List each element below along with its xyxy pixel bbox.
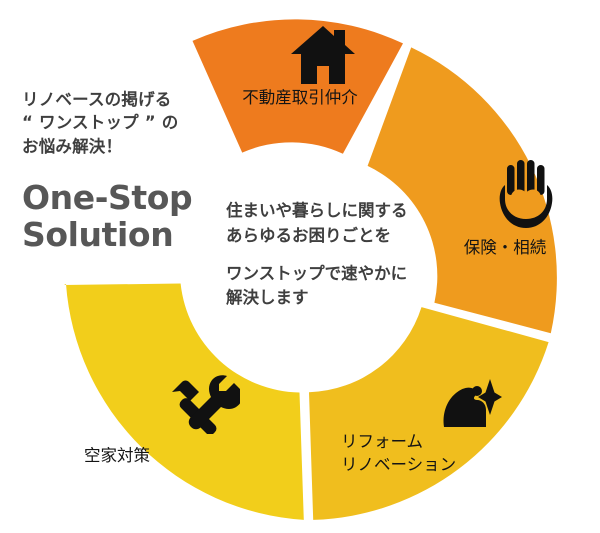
segment-label-renovation: リフォーム リノベーション <box>341 430 561 477</box>
segment-label-real-estate: 不動産取引仲介 <box>0 86 600 109</box>
hand-heart-icon <box>498 159 554 233</box>
center-paragraph2-line1: ワンストップで速やかに <box>226 262 451 287</box>
segment-label-insurance: 保険・相続 <box>410 236 600 259</box>
page-title-line-1: One-Stop <box>22 180 237 217</box>
house-icon <box>287 24 359 90</box>
lead-line-3: お悩み解決！ <box>22 135 237 158</box>
page-title: One-Stop Solution <box>22 180 237 254</box>
center-paragraph1-line1: 住まいや暮らしに関する <box>226 199 451 224</box>
segment-label-renovation-line2: リノベーション <box>341 453 561 476</box>
donut-segment-renovation[interactable] <box>309 307 549 520</box>
left-text-panel: リノベースの掲げる “ ワンストップ ” の お悩み解決！ One-Stop S… <box>22 88 237 254</box>
segment-label-vacant-house: 空家対策 <box>84 444 304 467</box>
segment-label-renovation-line1: リフォーム <box>341 430 561 453</box>
center-paragraph2-line2: 解決します <box>226 286 451 311</box>
sparkle-polish-icon <box>436 379 502 435</box>
infographic-canvas: リノベースの掲げる “ ワンストップ ” の お悩み解決！ One-Stop S… <box>0 0 600 533</box>
hammer-wrench-icon <box>166 372 240 438</box>
page-title-line-2: Solution <box>22 217 237 254</box>
lead-line-2: “ ワンストップ ” の <box>22 111 237 134</box>
